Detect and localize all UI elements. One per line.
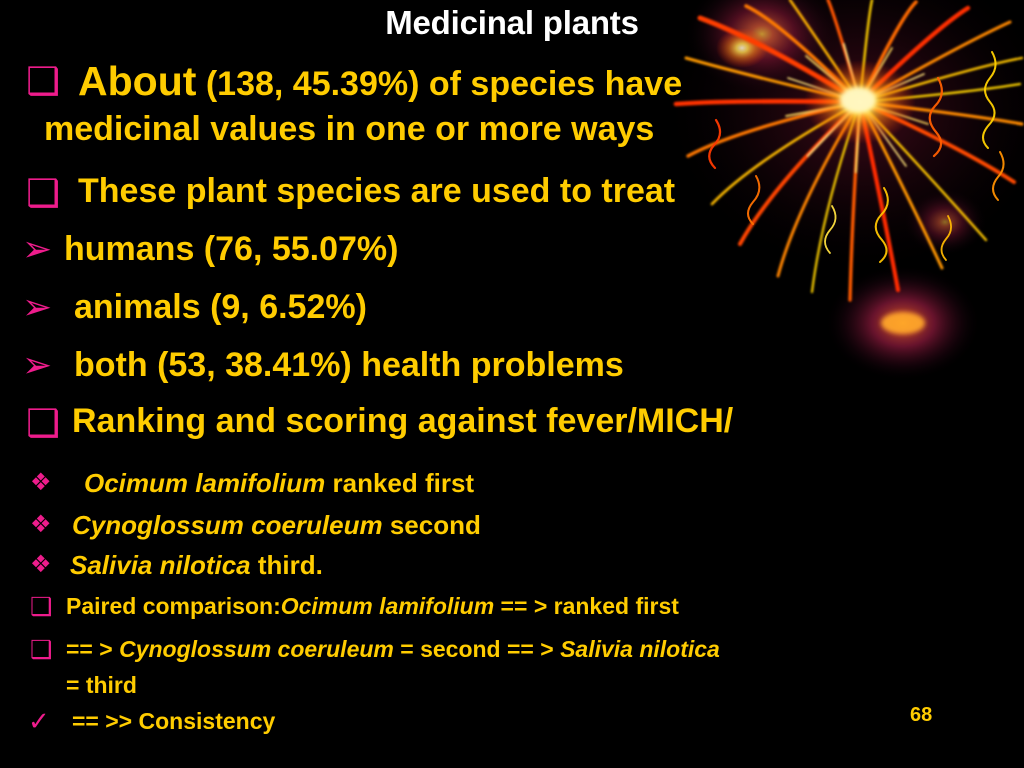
body-line-1-rest: (138, 45.39%) of species have — [196, 65, 682, 103]
body-line-10: Salivia nilotica third. — [70, 550, 323, 581]
body-line-12: == > Cynoglossum coeruleum = second == >… — [66, 636, 720, 663]
check-bullet-icon: ✓ — [28, 709, 50, 735]
species-name-ocimum: Ocimum lamifolium — [84, 468, 325, 498]
body-line-14: == >> Consistency — [72, 708, 275, 735]
body-line-1-lead: About — [78, 58, 196, 104]
body-line-2: medicinal values in one or more ways — [44, 110, 654, 149]
arrow-bullet-icon: ➢ — [22, 290, 52, 326]
species-name-cynoglossum: Cynoglossum coeruleum — [72, 510, 383, 540]
body-line-4: humans (76, 55.07%) — [64, 230, 398, 269]
body-line-11-plain-b: == > ranked first — [494, 593, 679, 619]
slide-canvas: Medicinal plants ❑ About (138, 45.39%) o… — [0, 0, 1024, 768]
species-name-cynoglossum: Cynoglossum coeruleum — [119, 636, 394, 662]
species-name-ocimum: Ocimum lamifolium — [281, 593, 494, 619]
body-line-7: Ranking and scoring against fever/MICH/ — [72, 402, 733, 441]
body-line-12-plain-b: = second == > — [394, 636, 560, 662]
body-line-6: both (53, 38.41%) health problems — [74, 346, 624, 385]
body-line-9: Cynoglossum coeruleum second — [72, 510, 481, 541]
body-line-9-plain: second — [383, 510, 481, 540]
square-bullet-icon: ❑ — [26, 404, 60, 442]
diamond-bullet-icon: ❖ — [30, 512, 52, 536]
page-number: 68 — [910, 704, 932, 727]
body-line-1: About (138, 45.39%) of species have — [78, 58, 682, 105]
body-line-11-plain-a: Paired comparison: — [66, 593, 281, 619]
body-line-5: animals (9, 6.52%) — [74, 288, 367, 327]
body-line-3: These plant species are used to treat — [78, 172, 675, 211]
square-bullet-icon: ❑ — [26, 62, 60, 100]
body-line-10-plain: third. — [251, 550, 323, 580]
page-title: Medicinal plants — [0, 4, 1024, 42]
body-line-13: = third — [66, 672, 137, 699]
body-line-11: Paired comparison:Ocimum lamifolium == >… — [66, 593, 679, 620]
diamond-bullet-icon: ❖ — [30, 470, 52, 494]
square-bullet-icon: ❑ — [26, 174, 60, 212]
square-bullet-icon: ❑ — [30, 637, 52, 662]
diamond-bullet-icon: ❖ — [30, 552, 52, 576]
species-name-salivia: Salivia nilotica — [70, 550, 251, 580]
body-line-8: Ocimum lamifolium ranked first — [84, 468, 474, 499]
arrow-bullet-icon: ➢ — [22, 348, 52, 384]
body-line-8-plain: ranked first — [325, 468, 474, 498]
body-line-12-plain-a: == > — [66, 636, 119, 662]
arrow-bullet-icon: ➢ — [22, 232, 52, 268]
species-name-salivia: Salivia nilotica — [560, 636, 720, 662]
square-bullet-icon: ❑ — [30, 594, 52, 619]
